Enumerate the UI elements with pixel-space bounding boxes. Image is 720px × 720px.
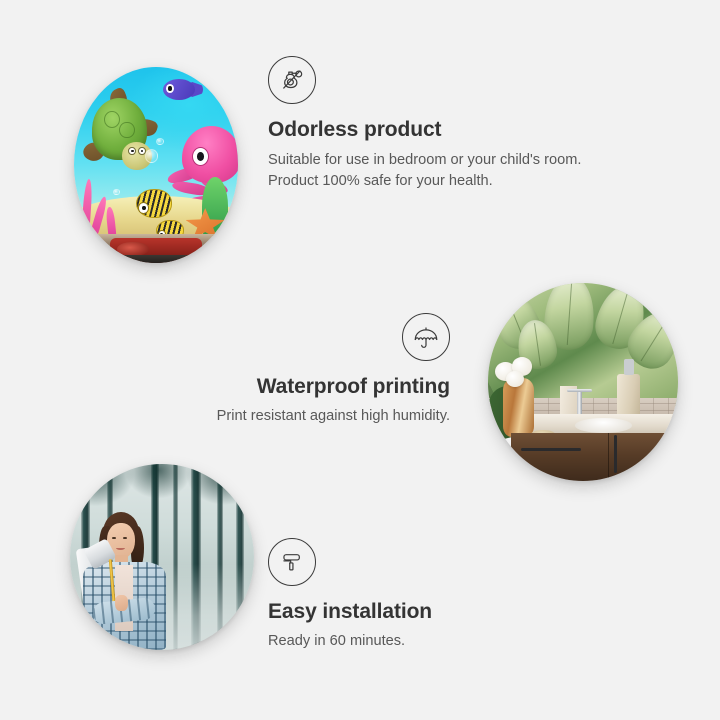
feature-block-waterproof: Waterproof printing Print resistant agai… <box>138 313 450 427</box>
white-roses <box>492 354 545 390</box>
floor-shadow <box>74 255 238 263</box>
feature-block-install: Easy installation Ready in 60 minutes. <box>268 538 598 652</box>
feature-highlights-page: Odorless product Suitable for use in bed… <box>0 0 720 720</box>
pink-coral <box>74 171 136 238</box>
feature-description: Print resistant against high humidity. <box>138 406 450 427</box>
no-odor-perfume-bottle-icon <box>268 56 316 104</box>
feature-description: Suitable for use in bedroom or your chil… <box>268 150 608 192</box>
feature-title: Easy installation <box>268 600 598 624</box>
umbrella-icon <box>402 313 450 361</box>
blue-fish <box>163 79 196 101</box>
paint-roller-icon <box>268 538 316 586</box>
sea-turtle <box>85 98 160 176</box>
woman-with-paint-roller-photo <box>70 464 254 650</box>
feature-title: Waterproof printing <box>138 375 450 399</box>
feature-block-odorless: Odorless product Suitable for use in bed… <box>268 56 608 192</box>
wood-vanity-cabinet <box>511 433 678 481</box>
bathroom-tropical-wallpaper-photo <box>488 283 678 481</box>
woman-installer <box>81 512 180 650</box>
feature-description: Ready in 60 minutes. <box>268 631 598 652</box>
feature-title: Odorless product <box>268 118 608 142</box>
underwater-cartoon-mural-photo <box>74 67 238 263</box>
striped-fish <box>136 189 172 218</box>
bubble <box>145 149 158 163</box>
